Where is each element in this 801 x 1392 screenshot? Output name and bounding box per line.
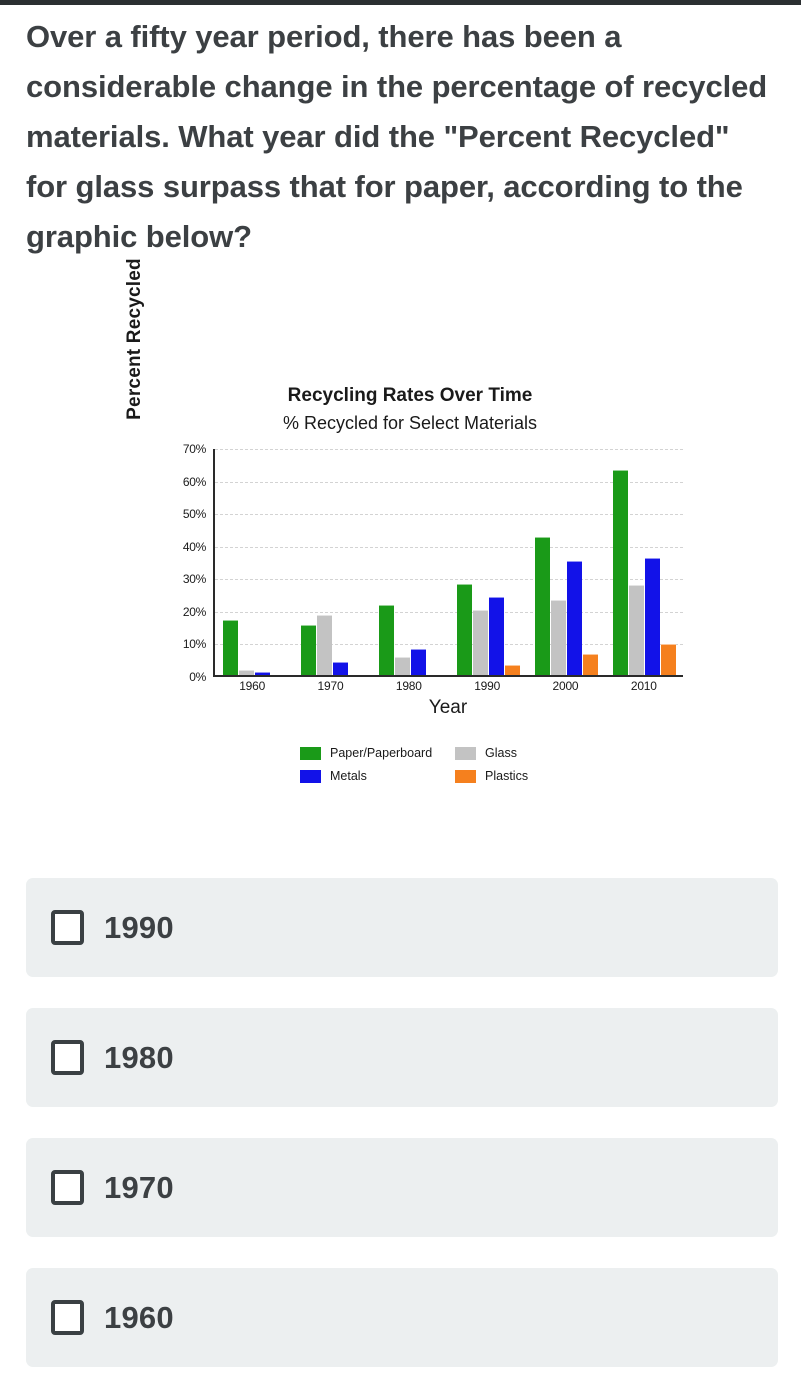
bar-plastics-2010 xyxy=(661,644,676,675)
x-tick-label: 1980 xyxy=(374,679,444,693)
x-axis-label: Year xyxy=(213,697,683,719)
option-1980[interactable]: 1980 xyxy=(26,1008,778,1107)
x-tick-label: 1960 xyxy=(217,679,287,693)
y-tick-label: 0% xyxy=(189,670,206,684)
top-status-bar xyxy=(0,0,801,5)
y-tick-label: 10% xyxy=(183,637,206,651)
bar-paper-1980 xyxy=(379,605,394,675)
bar-metals-2010 xyxy=(645,558,660,675)
chart-legend: Paper/PaperboardGlassMetalsPlastics xyxy=(300,746,600,783)
option-label: 1980 xyxy=(104,1040,174,1076)
option-1960[interactable]: 1960 xyxy=(26,1268,778,1367)
y-tick-label: 50% xyxy=(183,507,206,521)
option-label: 1970 xyxy=(104,1170,174,1206)
bar-plastics-1990 xyxy=(505,665,520,675)
checkbox-icon[interactable] xyxy=(51,1300,84,1335)
legend-swatch-glass xyxy=(455,747,476,760)
legend-label: Plastics xyxy=(485,769,528,783)
bar-metals-1980 xyxy=(411,649,426,675)
checkbox-icon[interactable] xyxy=(51,1040,84,1075)
bar-metals-2000 xyxy=(567,561,582,675)
bar-paper-1970 xyxy=(301,625,316,675)
bar-group-1980 xyxy=(375,449,445,675)
option-label: 1960 xyxy=(104,1300,174,1336)
bar-paper-1960 xyxy=(223,620,238,675)
y-axis-label: Percent Recycled xyxy=(124,223,146,455)
bar-group-1960 xyxy=(219,449,289,675)
legend-label: Paper/Paperboard xyxy=(330,746,432,760)
chart-title: Recycling Rates Over Time xyxy=(130,383,690,409)
bar-metals-1970 xyxy=(333,662,348,675)
bar-group-2010 xyxy=(609,449,679,675)
x-tick-label: 2010 xyxy=(609,679,679,693)
bar-glass-1960 xyxy=(239,670,254,675)
option-1990[interactable]: 1990 xyxy=(26,878,778,977)
y-tick-label: 30% xyxy=(183,572,206,586)
legend-item-glass: Glass xyxy=(455,746,600,760)
bar-glass-2000 xyxy=(551,600,566,675)
legend-swatch-paper xyxy=(300,747,321,760)
legend-item-plastics: Plastics xyxy=(455,769,600,783)
x-tick-label: 1990 xyxy=(452,679,522,693)
legend-label: Metals xyxy=(330,769,367,783)
bar-group-2000 xyxy=(531,449,601,675)
legend-label: Glass xyxy=(485,746,517,760)
y-axis-ticks: 0%10%20%30%40%50%60%70% xyxy=(156,449,208,677)
y-tick-label: 70% xyxy=(183,442,206,456)
bar-group-1970 xyxy=(297,449,367,675)
x-tick-label: 2000 xyxy=(530,679,600,693)
checkbox-icon[interactable] xyxy=(51,910,84,945)
x-tick-label: 1970 xyxy=(295,679,365,693)
bar-group-1990 xyxy=(453,449,523,675)
bar-glass-1980 xyxy=(395,657,410,675)
bar-paper-2010 xyxy=(613,470,628,675)
bar-paper-1990 xyxy=(457,584,472,675)
bar-groups xyxy=(215,449,683,675)
plot-axes xyxy=(213,449,683,677)
y-tick-label: 60% xyxy=(183,475,206,489)
recycling-bar-chart: Recycling Rates Over Time % Recycled for… xyxy=(130,383,690,803)
bar-metals-1960 xyxy=(255,672,270,675)
legend-item-metals: Metals xyxy=(300,769,455,783)
quiz-page: Over a fifty year period, there has been… xyxy=(0,0,801,1392)
legend-swatch-plastics xyxy=(455,770,476,783)
bar-glass-1970 xyxy=(317,615,332,675)
legend-item-paper: Paper/Paperboard xyxy=(300,746,455,760)
bar-paper-2000 xyxy=(535,537,550,675)
bar-plastics-2000 xyxy=(583,654,598,675)
y-tick-label: 20% xyxy=(183,605,206,619)
plot-region: Percent Recycled 0%10%20%30%40%50%60%70%… xyxy=(130,449,690,694)
bar-glass-2010 xyxy=(629,585,644,675)
checkbox-icon[interactable] xyxy=(51,1170,84,1205)
answer-options: 1990198019701960 xyxy=(26,878,778,1392)
option-label: 1990 xyxy=(104,910,174,946)
y-tick-label: 40% xyxy=(183,540,206,554)
option-1970[interactable]: 1970 xyxy=(26,1138,778,1237)
chart-subtitle: % Recycled for Select Materials xyxy=(130,411,690,435)
bar-metals-1990 xyxy=(489,597,504,675)
bar-glass-1990 xyxy=(473,610,488,675)
x-axis-ticks: 196019701980199020002010 xyxy=(213,679,683,693)
legend-swatch-metals xyxy=(300,770,321,783)
